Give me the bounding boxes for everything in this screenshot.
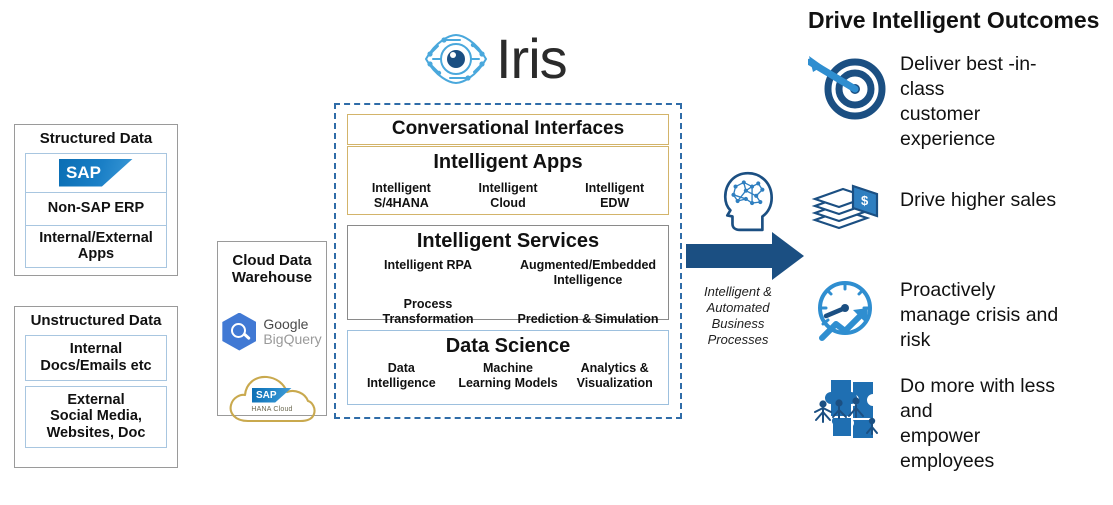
bigquery-hexagon-icon xyxy=(222,313,256,351)
outcome-item-3: Do more with less and empower employees xyxy=(808,374,1108,474)
intelligent-apps-item-0: Intelligent S/4HANA xyxy=(348,181,455,211)
data-science-item-2: Analytics & Visualization xyxy=(561,361,668,391)
process-arrow-icon xyxy=(686,232,804,280)
iris-wordmark: Iris xyxy=(496,31,567,87)
intelligent-apps-item-1: Intelligent Cloud xyxy=(455,181,562,211)
iris-eye-circuit-icon xyxy=(420,28,492,90)
intelligent-services-item-2: Process Transformation xyxy=(348,297,508,327)
sap-logo: SAP xyxy=(59,159,133,187)
intelligent-services-item-1: Augmented/Embedded Intelligence xyxy=(508,258,668,288)
unstructured-item-internal-label: Internal Docs/Emails etc xyxy=(40,341,151,373)
layer-data-science-title: Data Science xyxy=(348,335,668,357)
layer-conversational-interfaces-title: Conversational Interfaces xyxy=(392,119,624,140)
google-bigquery-logo: Google BigQuery xyxy=(222,313,321,351)
brain-head-icon xyxy=(717,168,783,234)
unstructured-item-internal: Internal Docs/Emails etc xyxy=(25,335,167,381)
layer-data-science: Data Science Data Intelligence Machine L… xyxy=(347,330,669,405)
gauge-growth-icon xyxy=(808,278,886,344)
hana-cloud-label: HANA Cloud xyxy=(251,406,292,413)
money-stack-icon: $ xyxy=(808,180,886,234)
data-science-item-1: Machine Learning Models xyxy=(455,361,562,391)
outcome-item-2: Proactively manage crisis and risk xyxy=(808,278,1108,353)
structured-item-internal-external-apps-label: Internal/External Apps xyxy=(26,230,166,262)
outcome-item-0: Deliver best -in- class customer experie… xyxy=(808,50,1108,152)
cloud-data-warehouse-box: Cloud Data Warehouse Google BigQuery SAP… xyxy=(217,241,327,416)
unstructured-item-external: External Social Media, Websites, Doc xyxy=(25,386,167,448)
structured-item-non-sap-erp-label: Non-SAP ERP xyxy=(48,200,144,216)
layer-conversational-interfaces: Conversational Interfaces xyxy=(347,114,669,145)
outcome-item-3-text: Do more with less and empower employees xyxy=(900,374,1055,474)
target-bullseye-icon xyxy=(808,50,886,129)
outcome-item-1: $ Drive higher sales xyxy=(808,180,1108,234)
structured-data-title: Structured Data xyxy=(25,131,167,148)
outcome-item-0-text: Deliver best -in- class customer experie… xyxy=(900,50,1037,152)
bigquery-product-label: BigQuery xyxy=(263,332,321,347)
hana-sap-mark: SAP xyxy=(252,388,292,403)
layer-intelligent-services-title: Intelligent Services xyxy=(348,230,668,252)
unstructured-data-box: Unstructured Data Internal Docs/Emails e… xyxy=(14,306,178,468)
sap-logo-text: SAP xyxy=(59,159,133,187)
unstructured-item-external-label: External Social Media, Websites, Doc xyxy=(26,392,166,441)
svg-text:$: $ xyxy=(861,193,869,208)
intelligent-services-item-0: Intelligent RPA xyxy=(348,258,508,288)
structured-item-sap: SAP xyxy=(25,153,167,193)
intelligent-process-flow: Intelligent & Automated Business Process… xyxy=(690,168,810,347)
hana-sap-text: SAP xyxy=(252,388,292,403)
outcome-item-2-text: Proactively manage crisis and risk xyxy=(900,278,1058,353)
intelligent-apps-item-2: Intelligent EDW xyxy=(561,181,668,211)
iris-brand: Iris xyxy=(420,28,567,90)
puzzle-people-icon xyxy=(808,374,886,442)
cloud-data-warehouse-title: Cloud Data Warehouse xyxy=(226,252,318,287)
outcome-item-1-text: Drive higher sales xyxy=(900,180,1056,213)
data-science-item-0: Data Intelligence xyxy=(348,361,455,391)
layer-intelligent-services: Intelligent Services Intelligent RPA Aug… xyxy=(347,225,669,320)
intelligent-services-item-3: Prediction & Simulation xyxy=(508,312,668,327)
structured-item-non-sap-erp: Non-SAP ERP xyxy=(25,193,167,226)
sap-hana-cloud-logo: SAP HANA Cloud xyxy=(226,371,318,406)
layer-intelligent-apps: Intelligent Apps Intelligent S/4HANA Int… xyxy=(347,146,669,215)
unstructured-data-title: Unstructured Data xyxy=(25,313,167,330)
structured-data-box: Structured Data SAP Non-SAP ERP Internal… xyxy=(14,124,178,276)
flow-caption: Intelligent & Automated Business Process… xyxy=(690,284,786,347)
outcomes-title: Drive Intelligent Outcomes xyxy=(808,8,1099,33)
bigquery-google-label: Google xyxy=(263,317,321,332)
structured-item-internal-external-apps: Internal/External Apps xyxy=(25,226,167,268)
layer-intelligent-apps-title: Intelligent Apps xyxy=(348,151,668,173)
